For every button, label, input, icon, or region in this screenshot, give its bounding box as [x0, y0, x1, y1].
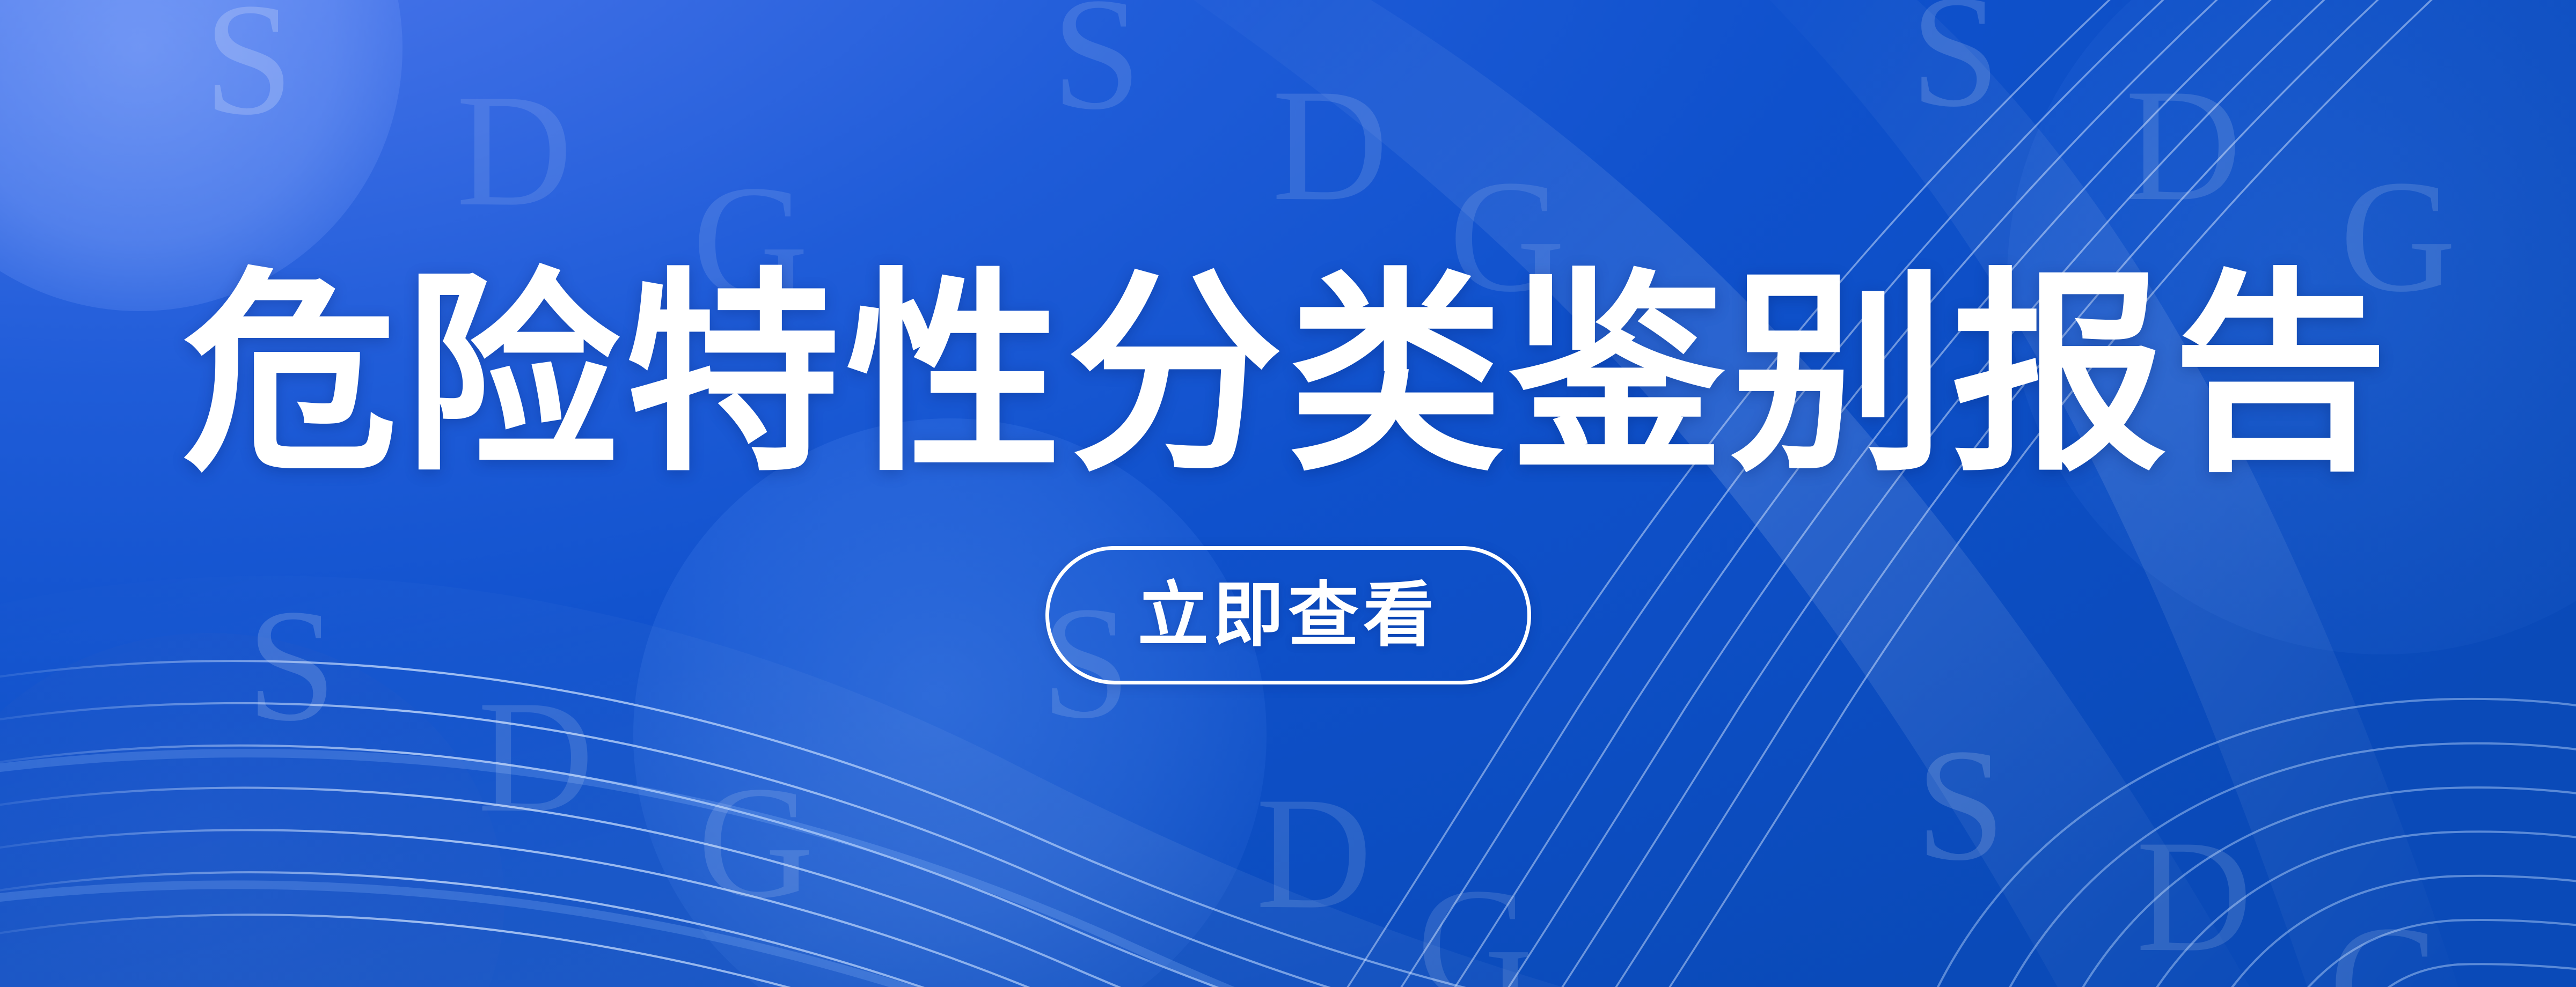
- page-title: 危险特性分类鉴别报告: [182, 267, 2394, 483]
- hazard-report-banner: SDGSDGSDGSDGSDGSDG 危险特性分类鉴别报告 立即查看: [0, 0, 2576, 987]
- view-now-button[interactable]: 立即查看: [1045, 546, 1531, 684]
- banner-content: 危险特性分类鉴别报告 立即查看: [0, 0, 2576, 987]
